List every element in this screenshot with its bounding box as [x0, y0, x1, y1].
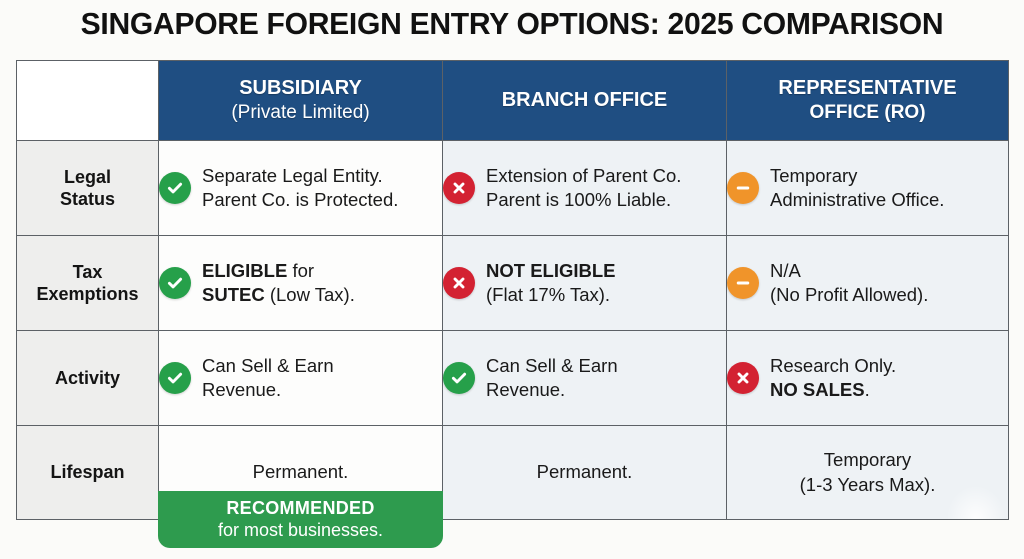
cell-branch-office-tax-exemptions: NOT ELIGIBLE(Flat 17% Tax).: [443, 236, 727, 331]
recommended-banner-subtitle: for most businesses.: [158, 520, 443, 542]
cross-circle-icon: [727, 362, 759, 394]
minus-circle-icon: [727, 267, 759, 299]
cell-text: N/A(No Profit Allowed).: [770, 259, 928, 308]
row-label-text: Lifespan: [50, 462, 124, 482]
cell-branch-office-activity: Can Sell & EarnRevenue.: [443, 331, 727, 426]
column-header-representative-office-subtitle: OFFICE (RO): [727, 101, 1008, 125]
cell-content: Research Only.NO SALES.: [727, 354, 1008, 403]
table-row: ActivityCan Sell & EarnRevenue.Can Sell …: [17, 331, 1009, 426]
table-row: LegalStatusSeparate Legal Entity.Parent …: [17, 141, 1009, 236]
header-corner-cell: [17, 61, 159, 141]
cell-text: Separate Legal Entity.Parent Co. is Prot…: [202, 164, 398, 213]
cell-subsidiary-legal-status: Separate Legal Entity.Parent Co. is Prot…: [159, 141, 443, 236]
row-label-activity: Activity: [17, 331, 159, 426]
cell-content: Can Sell & EarnRevenue.: [159, 354, 442, 403]
comparison-table: SUBSIDIARY (Private Limited) BRANCH OFFI…: [16, 60, 1009, 520]
cell-branch-office-legal-status: Extension of Parent Co.Parent is 100% Li…: [443, 141, 727, 236]
page-title: SINGAPORE FOREIGN ENTRY OPTIONS: 2025 CO…: [15, 6, 1008, 42]
check-circle-icon: [159, 267, 191, 299]
cell-content: N/A(No Profit Allowed).: [727, 259, 1008, 308]
cell-text: NOT ELIGIBLE(Flat 17% Tax).: [486, 259, 616, 308]
cell-representative-office-activity: Research Only.NO SALES.: [727, 331, 1009, 426]
cell-content: ELIGIBLE forSUTEC (Low Tax).: [159, 259, 442, 308]
cell-content: Temporary(1-3 Years Max).: [727, 448, 1008, 497]
cell-representative-office-lifespan: Temporary(1-3 Years Max).: [727, 426, 1009, 520]
cell-content: Permanent.: [443, 460, 726, 484]
row-label-text: Activity: [55, 368, 120, 388]
column-header-representative-office-title: REPRESENTATIVE: [778, 77, 956, 99]
cell-text: Can Sell & EarnRevenue.: [486, 354, 618, 403]
column-header-branch-office: BRANCH OFFICE: [443, 61, 727, 141]
cell-subsidiary-tax-exemptions: ELIGIBLE forSUTEC (Low Tax).: [159, 236, 443, 331]
cell-representative-office-legal-status: TemporaryAdministrative Office.: [727, 141, 1009, 236]
cell-content: Permanent.: [159, 460, 442, 484]
cell-text: Can Sell & EarnRevenue.: [202, 354, 334, 403]
table-header-row: SUBSIDIARY (Private Limited) BRANCH OFFI…: [17, 61, 1009, 141]
cell-text: Research Only.NO SALES.: [770, 354, 896, 403]
row-label-text: LegalStatus: [60, 167, 115, 210]
table-body: LegalStatusSeparate Legal Entity.Parent …: [17, 141, 1009, 520]
check-circle-icon: [159, 362, 191, 394]
column-header-subsidiary: SUBSIDIARY (Private Limited): [159, 61, 443, 141]
table-row: TaxExemptionsELIGIBLE forSUTEC (Low Tax)…: [17, 236, 1009, 331]
cell-content: Can Sell & EarnRevenue.: [443, 354, 726, 403]
cell-text: ELIGIBLE forSUTEC (Low Tax).: [202, 259, 355, 308]
row-label-text: TaxExemptions: [36, 262, 138, 305]
cross-circle-icon: [443, 267, 475, 299]
cell-text: Permanent.: [253, 460, 349, 484]
cell-text: Permanent.: [537, 460, 633, 484]
row-label-tax-exemptions: TaxExemptions: [17, 236, 159, 331]
column-header-subsidiary-title: SUBSIDIARY: [239, 77, 362, 99]
cell-branch-office-lifespan: Permanent.: [443, 426, 727, 520]
minus-circle-icon: [727, 172, 759, 204]
recommended-banner-title: RECOMMENDED: [158, 498, 443, 520]
row-label-legal-status: LegalStatus: [17, 141, 159, 236]
cell-representative-office-tax-exemptions: N/A(No Profit Allowed).: [727, 236, 1009, 331]
cell-subsidiary-activity: Can Sell & EarnRevenue.: [159, 331, 443, 426]
column-header-branch-office-title: BRANCH OFFICE: [502, 89, 668, 111]
cell-content: NOT ELIGIBLE(Flat 17% Tax).: [443, 259, 726, 308]
cell-text: TemporaryAdministrative Office.: [770, 164, 944, 213]
check-circle-icon: [443, 362, 475, 394]
cell-content: Separate Legal Entity.Parent Co. is Prot…: [159, 164, 442, 213]
recommended-banner: RECOMMENDED for most businesses.: [158, 491, 443, 548]
cell-text: Temporary(1-3 Years Max).: [800, 448, 936, 497]
comparison-infographic: SINGAPORE FOREIGN ENTRY OPTIONS: 2025 CO…: [0, 0, 1024, 559]
column-header-representative-office: REPRESENTATIVE OFFICE (RO): [727, 61, 1009, 141]
cell-content: Extension of Parent Co.Parent is 100% Li…: [443, 164, 726, 213]
column-header-subsidiary-subtitle: (Private Limited): [159, 101, 442, 125]
cross-circle-icon: [443, 172, 475, 204]
row-label-lifespan: Lifespan: [17, 426, 159, 520]
cell-content: TemporaryAdministrative Office.: [727, 164, 1008, 213]
check-circle-icon: [159, 172, 191, 204]
cell-text: Extension of Parent Co.Parent is 100% Li…: [486, 164, 681, 213]
